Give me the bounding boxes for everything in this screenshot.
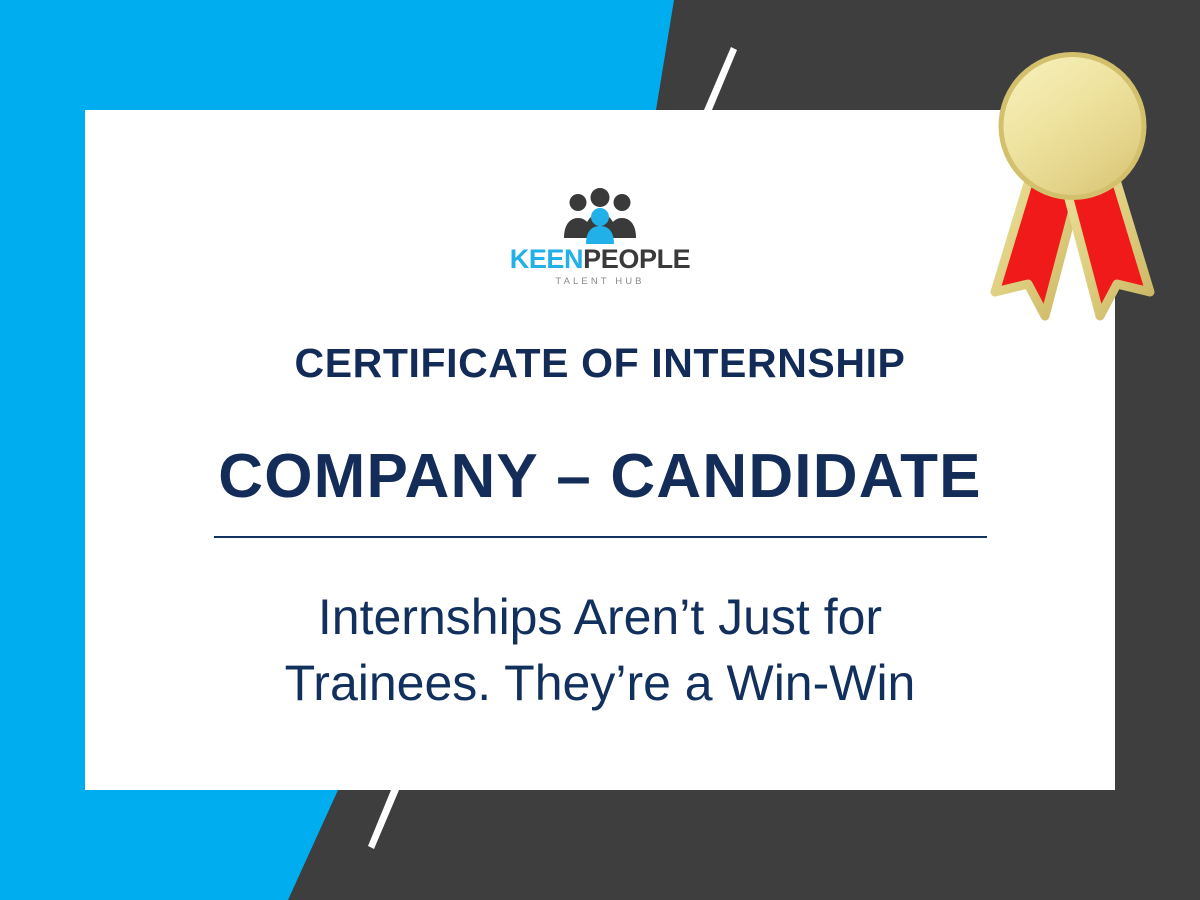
ribbon-tail-right <box>1064 180 1150 316</box>
logo-word-keen: KEEN <box>510 244 583 274</box>
logo-word-people: PEOPLE <box>583 244 690 274</box>
logo-wordmark: KEENPEOPLE <box>510 246 691 273</box>
medal-face <box>1004 57 1142 195</box>
headline-divider <box>214 536 987 538</box>
logo-tagline: TALENT HUB <box>555 277 644 287</box>
certificate-subtitle: Internships Aren’t Just for Trainees. Th… <box>240 584 960 716</box>
certificate-canvas: KEENPEOPLE TALENT HUB CERTIFICATE OF INT… <box>0 0 1200 900</box>
award-ribbon-badge <box>985 48 1160 338</box>
certificate-headline: COMPANY – CANDIDATE <box>218 446 981 508</box>
brand-logo: KEENPEOPLE TALENT HUB <box>520 188 680 287</box>
award-ribbon-icon <box>985 48 1160 338</box>
people-group-icon <box>561 188 639 244</box>
certificate-card: KEENPEOPLE TALENT HUB CERTIFICATE OF INT… <box>85 110 1115 790</box>
certificate-kicker: CERTIFICATE OF INTERNSHIP <box>294 343 905 384</box>
